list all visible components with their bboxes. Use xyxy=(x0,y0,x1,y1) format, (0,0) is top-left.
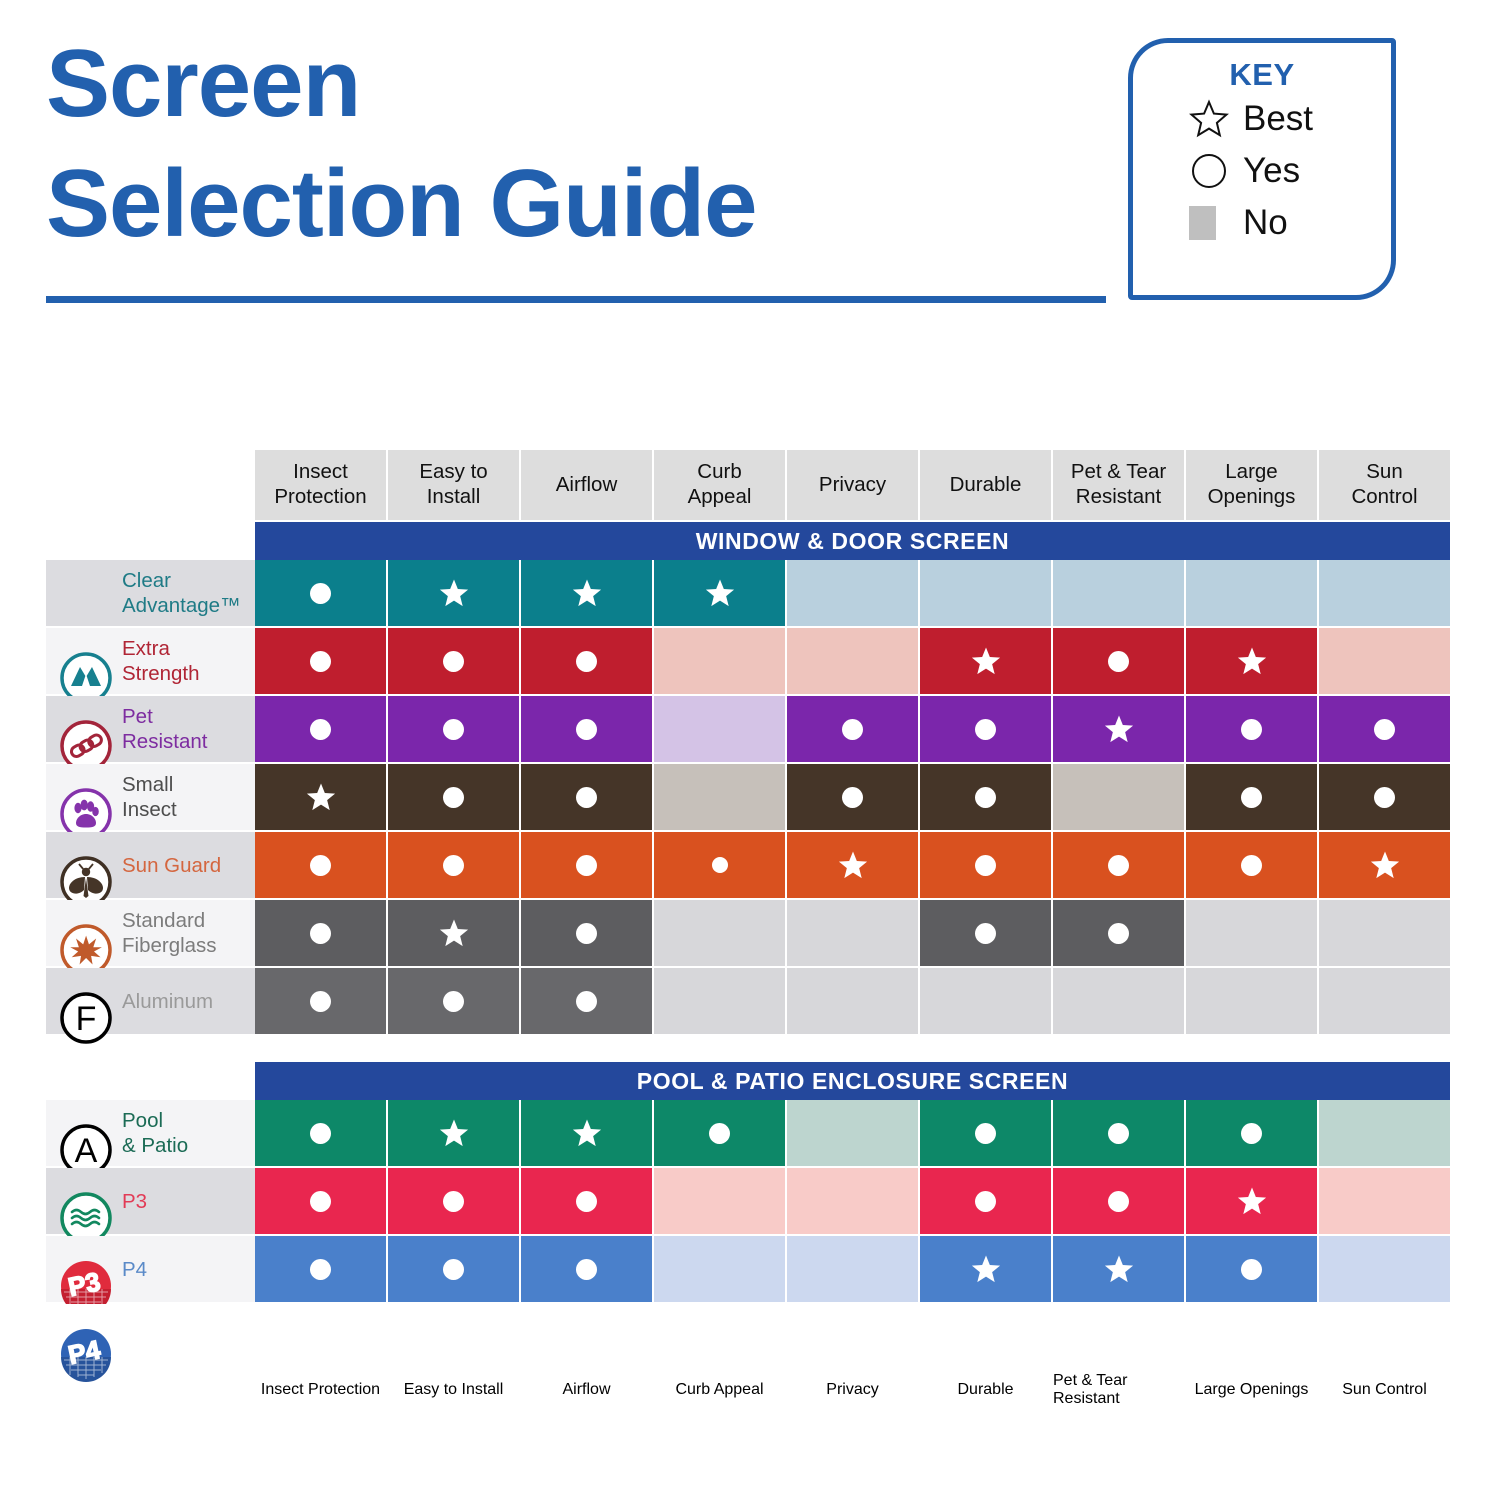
yes-dot-icon xyxy=(975,787,996,808)
yes-dot-icon xyxy=(310,923,331,944)
table-row[interactable]: Standard Fiberglass xyxy=(46,900,1450,966)
yes-dot-icon xyxy=(310,719,331,740)
best-star-icon xyxy=(1237,1186,1267,1216)
row-label[interactable]: P4 xyxy=(46,1304,255,1370)
row-label-text: P4 xyxy=(122,1257,147,1282)
svg-text:F: F xyxy=(76,1000,97,1038)
table-cell[interactable] xyxy=(1319,628,1450,694)
yes-dot-icon xyxy=(1241,855,1262,876)
table-row[interactable]: P4 xyxy=(46,1304,1450,1370)
table-cell[interactable] xyxy=(388,1168,521,1234)
table-cell[interactable] xyxy=(654,560,787,626)
yes-dot-icon xyxy=(576,787,597,808)
table-cell[interactable] xyxy=(787,968,920,1034)
row-label[interactable]: FAluminum xyxy=(46,968,255,1034)
yes-dot-icon xyxy=(443,787,464,808)
best-star-icon xyxy=(572,578,602,608)
yes-dot-icon xyxy=(1241,787,1262,808)
table-cell[interactable] xyxy=(654,1236,787,1302)
page-title: Screen Selection Guide xyxy=(46,36,1106,252)
yes-dot-icon xyxy=(576,1259,597,1280)
yes-dot-icon xyxy=(1108,855,1129,876)
table-cell[interactable] xyxy=(1319,900,1450,966)
section-banner-row: POOL & PATIO ENCLOSURE SCREEN xyxy=(46,1062,1450,1100)
best-star-icon xyxy=(1104,714,1134,744)
page-header: Screen Selection Guide KEY Best xyxy=(0,0,1500,330)
section-gap xyxy=(46,1036,1450,1062)
table-cell[interactable] xyxy=(521,764,654,830)
row-label-spacer xyxy=(46,1372,255,1408)
yes-dot-icon xyxy=(310,1123,331,1144)
yes-dot-icon xyxy=(576,1191,597,1212)
row-label-text: Pool & Patio xyxy=(122,1108,188,1158)
table-cell[interactable] xyxy=(1186,764,1319,830)
table-cell[interactable] xyxy=(920,696,1053,762)
table-cell[interactable] xyxy=(521,1236,654,1302)
table-cell[interactable] xyxy=(255,764,388,830)
table-cell[interactable] xyxy=(654,628,787,694)
column-header-row: Insect ProtectionEasy to InstallAirflowC… xyxy=(46,450,1450,520)
yes-dot-icon xyxy=(576,991,597,1012)
row-label[interactable]: Pet Resistant xyxy=(46,696,255,762)
column-header-8: Sun Control xyxy=(1319,1372,1450,1408)
table-cell[interactable] xyxy=(1319,560,1450,626)
key-item-best: Best xyxy=(1133,93,1391,145)
best-star-icon xyxy=(838,850,868,880)
table-cell[interactable] xyxy=(255,1168,388,1234)
table-cell[interactable] xyxy=(1186,696,1319,762)
table-cell[interactable] xyxy=(1053,628,1186,694)
yes-dot-icon xyxy=(310,991,331,1012)
column-header-4: Privacy xyxy=(787,450,920,520)
column-header-0: Insect Protection xyxy=(255,450,388,520)
table-cell[interactable] xyxy=(787,1168,920,1234)
table-cell[interactable] xyxy=(388,1100,521,1166)
best-star-icon xyxy=(705,578,735,608)
column-header-6: Pet & Tear Resistant xyxy=(1053,1372,1186,1408)
best-star-icon xyxy=(971,1254,1001,1284)
row-label-text: Small Insect xyxy=(122,772,177,822)
table-cell[interactable] xyxy=(1053,968,1186,1034)
row-label[interactable]: Sun Guard xyxy=(46,832,255,898)
row-label-text: Standard Fiberglass xyxy=(122,908,217,958)
table-cell[interactable] xyxy=(388,832,521,898)
yes-dot-icon xyxy=(1241,1259,1262,1280)
key-item-no: No xyxy=(1133,197,1391,249)
table-cell[interactable] xyxy=(920,764,1053,830)
yes-dot-icon xyxy=(1108,1123,1129,1144)
key-title: KEY xyxy=(1133,57,1391,93)
column-header-3: Curb Appeal xyxy=(654,450,787,520)
table-cell[interactable] xyxy=(1186,1100,1319,1166)
table-cell[interactable] xyxy=(654,1168,787,1234)
yes-dot-icon xyxy=(1108,651,1129,672)
table-cell[interactable] xyxy=(1319,764,1450,830)
column-header-0: Insect Protection xyxy=(255,1372,388,1408)
column-header-2: Airflow xyxy=(521,450,654,520)
table-cell[interactable] xyxy=(1319,696,1450,762)
yes-dot-icon xyxy=(1374,787,1395,808)
key-label-best: Best xyxy=(1243,99,1313,139)
table-cell[interactable] xyxy=(654,764,787,830)
table-cell[interactable] xyxy=(388,560,521,626)
table-cell[interactable] xyxy=(521,1100,654,1166)
row-label[interactable]: Small Insect xyxy=(46,764,255,830)
table-cell[interactable] xyxy=(787,832,920,898)
column-header-2: Airflow xyxy=(521,1372,654,1408)
table-cell[interactable] xyxy=(1053,764,1186,830)
yes-dot-icon xyxy=(310,855,331,876)
letter-f-icon: F xyxy=(58,990,114,1046)
table-row[interactable]: Small Insect xyxy=(46,764,1450,830)
row-label[interactable]: APool & Patio xyxy=(46,1100,255,1166)
table-cell[interactable] xyxy=(1053,1168,1186,1234)
banner-spacer xyxy=(46,522,255,560)
yes-dot-icon xyxy=(842,787,863,808)
best-star-icon xyxy=(1237,646,1267,676)
table-row[interactable]: P3P4 xyxy=(46,1236,1450,1302)
column-header-1: Easy to Install xyxy=(388,1372,521,1408)
table-cell[interactable] xyxy=(521,696,654,762)
title-line-2: Selection Guide xyxy=(46,156,1106,252)
row-label-text: Extra Strength xyxy=(122,636,200,686)
column-header-5: Durable xyxy=(920,1372,1053,1408)
star-outline-icon xyxy=(1189,99,1235,139)
yes-dot-icon xyxy=(310,651,331,672)
yes-dot-icon xyxy=(310,583,331,604)
comparison-table: Insect ProtectionEasy to InstallAirflowC… xyxy=(46,450,1450,1408)
yes-dot-icon xyxy=(443,1191,464,1212)
yes-dot-icon xyxy=(576,923,597,944)
table-cell[interactable] xyxy=(1053,832,1186,898)
table-cell[interactable] xyxy=(920,968,1053,1034)
yes-dot-icon xyxy=(576,719,597,740)
yes-dot-icon xyxy=(1108,923,1129,944)
row-label-spacer xyxy=(46,450,255,520)
table-cell[interactable] xyxy=(1186,1168,1319,1234)
key-item-yes: Yes xyxy=(1133,145,1391,197)
table-cell[interactable] xyxy=(521,1168,654,1234)
table-cell[interactable] xyxy=(654,900,787,966)
table-cell[interactable] xyxy=(1186,968,1319,1034)
table-cell[interactable] xyxy=(787,764,920,830)
table-cell[interactable] xyxy=(1319,968,1450,1034)
table-cell[interactable] xyxy=(521,560,654,626)
table-row[interactable]: APool & Patio xyxy=(46,1100,1450,1166)
table-cell[interactable] xyxy=(255,1100,388,1166)
row-label[interactable]: Standard Fiberglass xyxy=(46,900,255,966)
table-row[interactable]: FAluminum xyxy=(46,968,1450,1034)
table-cell[interactable] xyxy=(1186,832,1319,898)
table-cell[interactable] xyxy=(388,628,521,694)
section-banner: WINDOW & DOOR SCREEN xyxy=(255,522,1450,560)
table-cell[interactable] xyxy=(787,1236,920,1302)
table-cell[interactable] xyxy=(920,628,1053,694)
table-row[interactable]: Pet Resistant xyxy=(46,696,1450,762)
yes-dot-icon xyxy=(975,1123,996,1144)
row-label[interactable]: Clear Advantage™ xyxy=(46,560,255,626)
table-row[interactable]: Extra Strength xyxy=(46,628,1450,694)
column-footer-row: Insect ProtectionEasy to InstallAirflowC… xyxy=(46,1372,1450,1408)
best-star-icon xyxy=(439,1118,469,1148)
table-cell[interactable] xyxy=(255,628,388,694)
table-cell[interactable] xyxy=(920,1100,1053,1166)
table-cell[interactable] xyxy=(787,696,920,762)
yes-dot-icon xyxy=(310,1259,331,1280)
column-header-1: Easy to Install xyxy=(388,450,521,520)
column-header-6: Pet & Tear Resistant xyxy=(1053,450,1186,520)
table-cell[interactable] xyxy=(920,832,1053,898)
yes-dot-icon xyxy=(1374,719,1395,740)
row-label[interactable]: P3 xyxy=(46,1168,255,1234)
table-row[interactable]: Clear Advantage™ xyxy=(46,560,1450,626)
column-header-3: Curb Appeal xyxy=(654,1372,787,1408)
table-cell[interactable] xyxy=(521,968,654,1034)
gray-square-icon xyxy=(1189,206,1235,240)
row-label[interactable]: P3P4 xyxy=(46,1236,255,1302)
table-cell[interactable] xyxy=(787,560,920,626)
table-cell[interactable] xyxy=(1186,900,1319,966)
yes-dot-icon xyxy=(975,855,996,876)
title-underline xyxy=(46,296,1106,303)
table-cell[interactable] xyxy=(1186,560,1319,626)
column-header-4: Privacy xyxy=(787,1372,920,1408)
yes-dot-icon xyxy=(443,1259,464,1280)
circle-outline-icon xyxy=(1189,151,1235,191)
table-cell[interactable] xyxy=(388,696,521,762)
table-cell[interactable] xyxy=(388,764,521,830)
row-label-text: Pet Resistant xyxy=(122,704,207,754)
table-cell[interactable] xyxy=(255,696,388,762)
yes-dot-icon xyxy=(443,855,464,876)
yes-dot-icon xyxy=(1241,719,1262,740)
row-label-text: Sun Guard xyxy=(122,853,221,878)
key-label-yes: Yes xyxy=(1243,151,1300,191)
table-cell[interactable] xyxy=(654,696,787,762)
yes-dot-icon xyxy=(443,651,464,672)
table-cell[interactable] xyxy=(920,1236,1053,1302)
table-cell[interactable] xyxy=(1319,832,1450,898)
best-star-icon xyxy=(971,646,1001,676)
table-cell[interactable] xyxy=(787,900,920,966)
table-cell[interactable] xyxy=(388,1236,521,1302)
table-row[interactable]: Sun Guard xyxy=(46,832,1450,898)
key-legend-box: KEY Best Yes xyxy=(1128,38,1396,300)
yes-dot-icon xyxy=(576,651,597,672)
table-cell[interactable] xyxy=(920,900,1053,966)
table-cell[interactable] xyxy=(1186,1236,1319,1302)
row-label-text: Aluminum xyxy=(122,989,213,1014)
yes-dot-icon xyxy=(443,719,464,740)
yes-dot-icon xyxy=(310,1191,331,1212)
yes-dot-icon xyxy=(1108,1191,1129,1212)
table-cell[interactable] xyxy=(255,900,388,966)
best-star-icon xyxy=(572,1118,602,1148)
yes-dot-icon xyxy=(1241,1123,1262,1144)
table-cell[interactable] xyxy=(654,968,787,1034)
table-cell[interactable] xyxy=(1186,628,1319,694)
column-header-7: Large Openings xyxy=(1186,450,1319,520)
column-header-5: Durable xyxy=(920,450,1053,520)
row-label[interactable]: Extra Strength xyxy=(46,628,255,694)
row-label-text: P3 xyxy=(122,1189,147,1214)
table-cell[interactable] xyxy=(1053,560,1186,626)
table-cell[interactable] xyxy=(654,1100,787,1166)
yes-dot-icon xyxy=(842,719,863,740)
table-cell[interactable] xyxy=(255,968,388,1034)
section-banner-row: WINDOW & DOOR SCREEN xyxy=(46,522,1450,560)
table-cell[interactable] xyxy=(521,832,654,898)
table-cell[interactable] xyxy=(1053,696,1186,762)
best-star-icon xyxy=(1104,1254,1134,1284)
yes-dot-icon xyxy=(709,1123,730,1144)
table-cell[interactable] xyxy=(521,628,654,694)
title-line-1: Screen xyxy=(46,36,1106,132)
table-cell[interactable] xyxy=(920,1168,1053,1234)
screen-selection-guide-page: Screen Selection Guide KEY Best xyxy=(0,0,1500,1500)
best-star-icon xyxy=(439,918,469,948)
table-cell[interactable] xyxy=(920,560,1053,626)
banner-spacer xyxy=(46,1062,255,1100)
table-cell[interactable] xyxy=(388,968,521,1034)
table-cell[interactable] xyxy=(255,832,388,898)
best-star-icon xyxy=(306,782,336,812)
table-cell[interactable] xyxy=(1319,1236,1450,1302)
table-cell[interactable] xyxy=(787,628,920,694)
yes-dot-icon xyxy=(443,991,464,1012)
key-label-no: No xyxy=(1243,203,1288,243)
table-row[interactable]: P3 xyxy=(46,1168,1450,1234)
section-banner: POOL & PATIO ENCLOSURE SCREEN xyxy=(255,1062,1450,1100)
column-header-7: Large Openings xyxy=(1186,1372,1319,1408)
yes-dot-icon xyxy=(975,1191,996,1212)
table-cell[interactable] xyxy=(1319,1100,1450,1166)
column-header-8: Sun Control xyxy=(1319,450,1450,520)
table-cell[interactable] xyxy=(654,832,787,898)
yes-dot-icon xyxy=(576,855,597,876)
table-cell[interactable] xyxy=(1319,1168,1450,1234)
table-cell[interactable] xyxy=(1053,900,1186,966)
table-cell[interactable] xyxy=(388,900,521,966)
row-label-text: Clear Advantage™ xyxy=(122,568,241,618)
table-cell[interactable] xyxy=(1053,1236,1186,1302)
yes-dot-icon xyxy=(712,857,728,873)
table-cell[interactable] xyxy=(255,560,388,626)
best-star-icon xyxy=(1370,850,1400,880)
yes-dot-icon xyxy=(975,923,996,944)
yes-dot-icon xyxy=(975,719,996,740)
svg-text:A: A xyxy=(75,1132,98,1170)
best-star-icon xyxy=(439,578,469,608)
table-cell[interactable] xyxy=(787,1100,920,1166)
table-cell[interactable] xyxy=(255,1236,388,1302)
table-cell[interactable] xyxy=(521,900,654,966)
table-cell[interactable] xyxy=(1053,1100,1186,1166)
